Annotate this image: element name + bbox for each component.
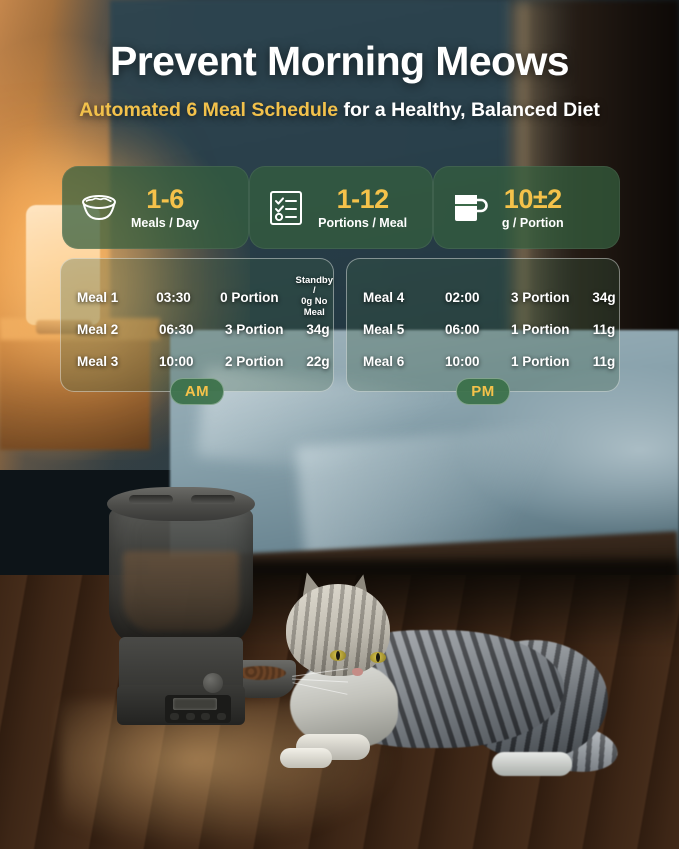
table-row: Meal 5 06:00 1 Portion 11g [347,313,619,345]
table-row: Meal 4 02:00 3 Portion 34g [347,281,619,313]
meal-time: 06:30 [159,322,225,337]
badge-label: Portions / Meal [318,217,407,230]
table-row: Meal 6 10:00 1 Portion 11g [347,345,619,377]
meal-time: 10:00 [445,354,511,369]
overlay-content: Prevent Morning Meows Automated 6 Meal S… [0,0,679,849]
badge-label: Meals / Day [131,217,199,230]
meal-time: 02:00 [445,290,511,305]
subheading: Automated 6 Meal Schedule for a Healthy,… [0,99,679,122]
meal-portion: 1 Portion [511,322,589,337]
meal-amount: 34g [303,322,333,337]
badge-text: 1-12 Portions / Meal [318,185,407,229]
pet-bowl-icon [78,188,120,228]
subheading-rest: for a Healthy, Balanced Diet [338,99,600,121]
meal-label: Meal 4 [347,290,445,305]
badge-meals-per-day: 1-6 Meals / Day [62,166,249,249]
badge-value: 1-12 [337,185,389,213]
meal-amount: 34g [589,290,619,305]
meal-portion: 1 Portion [511,354,589,369]
schedule-card-pm: Meal 4 02:00 3 Portion 34g Meal 5 06:00 … [346,258,620,392]
badge-portions-per-meal: 1-12 Portions / Meal [249,166,433,249]
badge-value: 10±2 [504,185,562,213]
meal-time: 03:30 [156,290,220,305]
badge-label: g / Portion [502,217,564,230]
meal-label: Meal 3 [61,354,159,369]
meal-portion: 3 Portion [511,290,589,305]
table-row: Meal 3 10:00 2 Portion 22g [61,345,333,377]
meal-amount: 11g [589,354,619,369]
meal-amount: Standby / 0g No Meal [296,276,333,319]
meal-label: Meal 1 [61,290,156,305]
schedule-tables: Meal 1 03:30 0 Portion Standby / 0g No M… [60,258,620,403]
period-badge-pm: PM [456,378,510,405]
schedule-rows-pm: Meal 4 02:00 3 Portion 34g Meal 5 06:00 … [347,281,619,377]
table-row: Meal 1 03:30 0 Portion Standby / 0g No M… [61,281,333,313]
meal-time: 06:00 [445,322,511,337]
checklist-icon [265,188,307,228]
meal-label: Meal 2 [61,322,159,337]
badge-text: 10±2 g / Portion [502,185,564,229]
meal-portion: 2 Portion [225,354,303,369]
meal-amount: 11g [589,322,619,337]
meal-label: Meal 6 [347,354,445,369]
meal-amount-line1: Standby / [296,275,333,297]
schedule-rows-am: Meal 1 03:30 0 Portion Standby / 0g No M… [61,281,333,377]
meal-portion: 0 Portion [220,290,295,305]
period-badge-am: AM [170,378,224,405]
meal-portion: 3 Portion [225,322,303,337]
badge-grams-per-portion: 10±2 g / Portion [433,166,620,249]
meal-time: 10:00 [159,354,225,369]
measuring-cup-icon [449,188,491,228]
feature-badges: 1-6 Meals / Day [62,166,620,249]
subheading-highlight: Automated 6 Meal Schedule [79,99,338,121]
page-title: Prevent Morning Meows [0,38,679,85]
schedule-card-am: Meal 1 03:30 0 Portion Standby / 0g No M… [60,258,334,392]
meal-amount: 22g [303,354,333,369]
meal-label: Meal 5 [347,322,445,337]
badge-value: 1-6 [146,185,184,213]
badge-text: 1-6 Meals / Day [131,185,199,229]
meal-amount-line2: 0g No Meal [301,296,327,318]
advertisement-stage: Prevent Morning Meows Automated 6 Meal S… [0,0,679,849]
table-row: Meal 2 06:30 3 Portion 34g [61,313,333,345]
